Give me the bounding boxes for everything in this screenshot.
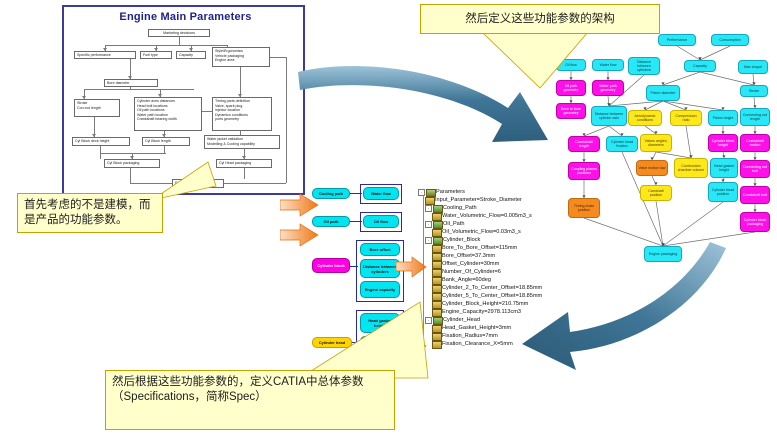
callout-top-tail — [480, 30, 600, 90]
flow-edge — [164, 146, 165, 153]
flow-node-stroke: Stroke Con-rod length — [74, 99, 120, 117]
graph-node-crankmotion: Crankshaft motion — [740, 134, 770, 152]
graph-node-cylheadfix: Cylinder head fixation — [606, 136, 638, 152]
callout-left: 首先考虑的不是建模，而是产品的功能参数。 — [17, 193, 163, 233]
flow-edge — [84, 89, 194, 90]
flow-node-specperf: Specific performance — [74, 51, 136, 59]
callout-bottom-tail — [300, 300, 430, 380]
graph-node-couplingplanes: Coupling planes positions — [568, 162, 600, 180]
parameter-icon — [432, 229, 440, 235]
flow-arrow — [130, 156, 134, 159]
flow-edge — [179, 37, 180, 45]
folder-icon — [433, 221, 441, 227]
graph-node-crankbolt: Crankshaft bolt — [740, 186, 770, 204]
graph-node-combustion: Combustion chamber volume — [674, 158, 708, 178]
graph-node-pistondia: Piston diameter — [646, 85, 680, 101]
flow-node-timing: Timing parts definition Valve, spark plu… — [212, 97, 272, 131]
orange-arrow-icon — [280, 192, 320, 218]
graph-node-timingchain: Timing chain position — [568, 198, 600, 218]
chip-link — [350, 193, 362, 194]
callout-bottom: 然后根据这些功能参数的，定义CATIA中总体参数（Specifications，… — [105, 370, 395, 430]
flow-edge — [286, 57, 287, 183]
flow-edge — [105, 45, 227, 46]
slide-canvas: Engine Main Parameters Marketing decisio… — [0, 0, 777, 447]
flow-node-style: Style/Ergonomics Vehicle packaging Engin… — [212, 47, 270, 67]
flow-node-fueltype: Fuel type — [140, 51, 172, 59]
callout-top: 然后定义这些功能参数的架构 — [420, 4, 660, 34]
flow-arrow — [238, 94, 242, 97]
chip-oil-flow: Oil flow — [363, 215, 399, 228]
flow-arrow — [158, 94, 162, 97]
graph-node-cylblockheight: Cylinder block height — [708, 134, 738, 152]
flow-edge — [202, 111, 212, 112]
tree-row-label: Oil_Volumetric_Flow=0.03m3_s — [442, 228, 521, 236]
tree-row-label: Water_Volumetric_Flow=0.005m3_s — [442, 212, 532, 220]
graph-node-cylheadpos: Cylinder head position — [708, 182, 738, 202]
chip-cylinder-block: Cylinder block — [312, 258, 350, 273]
flow-edge — [240, 67, 241, 97]
orange-arrow-icon — [280, 222, 320, 248]
flow-node-marketing: Marketing decisions — [148, 29, 210, 37]
flow-edge — [132, 153, 166, 154]
chip-distance-between-cylinders: Distance between cylinders — [360, 259, 400, 278]
graph-node-headgasket: Head gasket height — [710, 158, 738, 178]
flowchart-title: Engine Main Parameters — [64, 11, 307, 23]
graph-node-valvemotion: Valve motion law — [636, 160, 668, 176]
flow-arrow — [92, 134, 96, 137]
graph-node-stroke: Stroke — [740, 85, 768, 97]
graph-node-performance: Performance — [658, 34, 696, 46]
flow-edge — [130, 168, 131, 183]
flow-node-headpackaging: Cyl Head packaging — [216, 159, 272, 168]
graph-node-valvesangles: Valves angles, diameters — [640, 134, 672, 152]
flow-edge — [224, 183, 286, 184]
flow-arrow — [128, 76, 132, 79]
flow-arrow — [162, 134, 166, 137]
flow-node-waterjacket: Water jacket validation Modelling & Cool… — [204, 135, 280, 149]
flow-arrow — [242, 156, 246, 159]
chip-link — [350, 266, 358, 267]
parameter-icon — [425, 197, 433, 203]
flow-arrow — [154, 48, 158, 51]
chip-engine-capacity: Engine capacity — [360, 281, 400, 298]
parameter-icon — [432, 213, 440, 219]
chip-bore-offset: Bore offset — [360, 243, 400, 256]
tree-expander-icon[interactable]: - — [425, 205, 432, 212]
flow-node-deckheight: Cyl Block deck height — [72, 137, 130, 146]
tree-row-label: Oil_Path — [443, 220, 464, 228]
flow-arrow — [103, 48, 107, 51]
tree-expander-icon[interactable]: - — [418, 189, 425, 196]
tree-row-label: Cooling_Path — [443, 204, 477, 212]
flow-node-capacity: Capacity — [176, 51, 206, 59]
tree-expander-icon[interactable]: - — [425, 221, 432, 228]
flow-edge — [227, 45, 228, 47]
folder-icon — [433, 205, 441, 211]
graph-node-cylblockpack: Cylinder block packaging — [740, 212, 770, 232]
flow-edge — [244, 168, 245, 179]
flow-edge — [130, 87, 131, 89]
graph-node-distheads: Distance between cylinders — [628, 57, 660, 75]
flow-node-blocklength: Cyl Block length — [142, 137, 190, 146]
chip-link — [350, 221, 362, 222]
graph-node-compratio: Compression ratio — [670, 110, 702, 126]
flow-node-cylaxes: Cylinder axes distances Head bolt locati… — [134, 97, 202, 131]
chip-water-flow: Water flow — [363, 187, 399, 200]
folder-icon — [426, 189, 434, 195]
tree-row-label: Input_Parameter=Stroke_Diameter — [435, 196, 522, 204]
graph-node-aero: Aerodynamic conditions — [628, 110, 662, 126]
flow-edge — [240, 131, 241, 135]
graph-node-maxtorque: Max torque — [738, 60, 768, 74]
flow-node-bore: Bore diameter — [104, 79, 158, 87]
graph-node-crankshaftlen: Crankshaft length — [568, 136, 600, 152]
flow-edge — [270, 57, 286, 58]
graph-node-pistonheight: Piston height — [708, 110, 738, 126]
graph-node-camshaftpos: Camshaft position — [640, 185, 672, 201]
flow-arrow — [189, 48, 193, 51]
graph-node-conrodlen: Connecting rod length — [740, 108, 770, 126]
graph-node-consumption: Consumption — [711, 34, 749, 46]
tree-row-label: Parameters — [436, 188, 465, 196]
graph-node-distaxes: Distance between cylinder axis — [591, 106, 627, 126]
graph-node-conrodbolt: Connecting rod bolt — [740, 160, 770, 178]
blue-arrow-bottom-icon — [430, 240, 730, 370]
graph-node-capacity: Capacity — [684, 60, 716, 72]
flow-arrow — [82, 96, 86, 99]
